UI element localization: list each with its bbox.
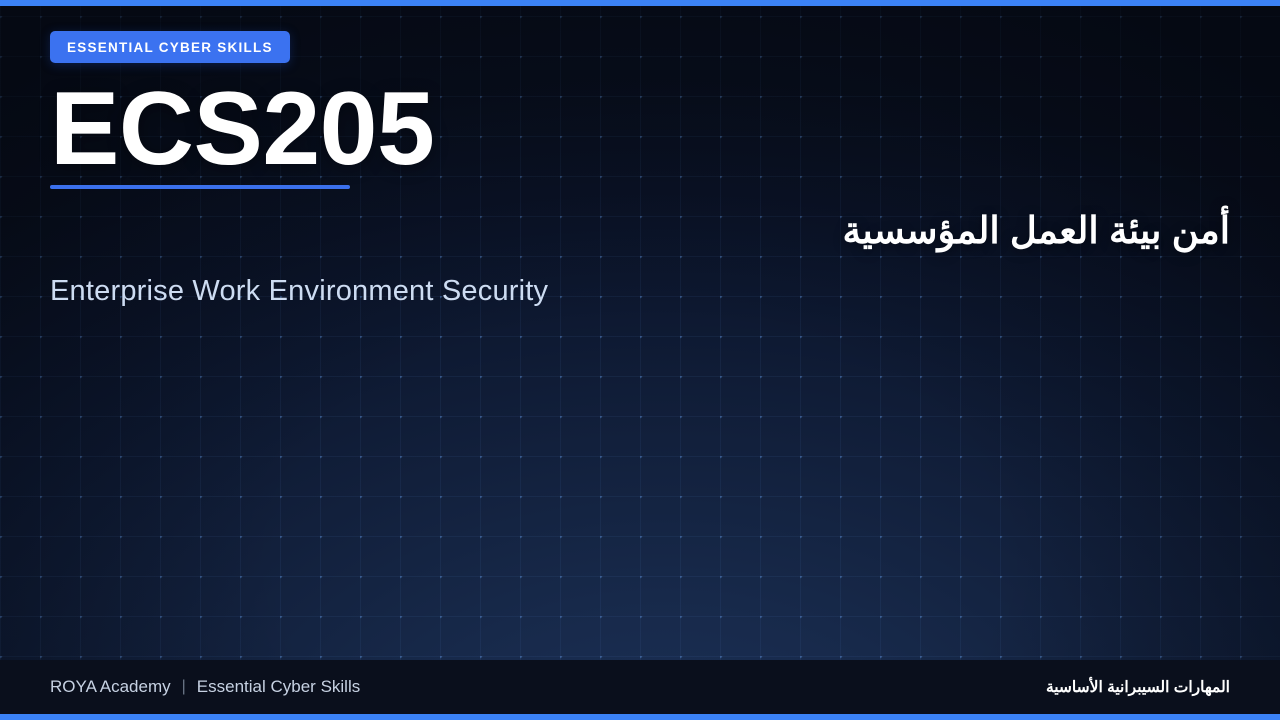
presentation-slide: ESSENTIAL CYBER SKILLS ECS205 أمن بيئة ا… (0, 0, 1280, 720)
footer-organization: ROYA Academy (50, 677, 171, 697)
course-category-badge: ESSENTIAL CYBER SKILLS (50, 31, 290, 63)
course-code-underline (50, 185, 350, 189)
bottom-accent-bar (0, 714, 1280, 720)
course-category-badge-label: ESSENTIAL CYBER SKILLS (67, 40, 273, 55)
footer-program-arabic: المهارات السيبرانية الأساسية (1046, 678, 1230, 697)
course-title-arabic: أمن بيئة العمل المؤسسية (470, 206, 1230, 256)
course-title-english: Enterprise Work Environment Security (50, 275, 548, 308)
course-code-heading: ECS205 (50, 77, 434, 181)
footer-separator: | (182, 678, 186, 696)
footer-left-group: ROYA Academy | Essential Cyber Skills (50, 677, 360, 697)
top-accent-bar (0, 0, 1280, 6)
slide-footer: ROYA Academy | Essential Cyber Skills ال… (0, 660, 1280, 714)
footer-program-english: Essential Cyber Skills (197, 677, 360, 697)
